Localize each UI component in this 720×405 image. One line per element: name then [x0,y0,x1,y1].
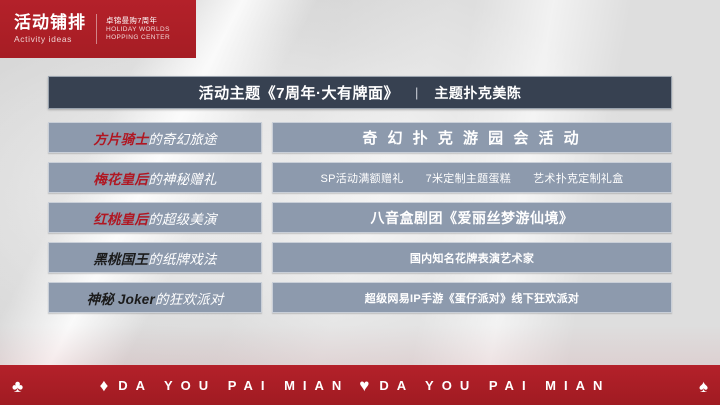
row-content: 八音盒剧团《爱丽丝梦游仙境》 [371,208,574,228]
row-label-suffix: 的狂欢派对 [155,292,224,307]
slide-title-bar: 活动主题《7周年·大有牌面》 | 主题扑克美陈 [48,76,672,109]
table-row: 神秘 Joker的狂欢派对 超级网易IP手游《蛋仔派对》线下狂欢派对 [48,282,672,313]
brand-banner: 活动铺排 Activity ideas 卓锦曼购7周年 HOLIDAY WORL… [0,0,196,58]
brand-sub-en-line1: HOLIDAY WORLDS [106,26,170,35]
table-row: 方片骑士的奇幻旅途 奇 幻 扑 克 游 园 会 活 动 [48,122,672,153]
spade-icon: ♠ [699,378,708,395]
row-content: 国内知名花牌表演艺术家 [410,250,534,266]
footer-marquee-right: DA YOU PAI MIAN [369,378,620,393]
row-label: 方片骑士的奇幻旅途 [93,128,216,148]
row-label-prefix: 黑桃国王 [93,252,148,267]
row-content-cell: SP活动满额赠礼7米定制主题蛋糕艺术扑克定制礼盒 [272,162,672,193]
row-content: 奇 幻 扑 克 游 园 会 活 动 [362,127,581,148]
row-label-suffix: 的神秘赠礼 [148,172,217,187]
page-subtitle: 主题扑克美陈 [434,83,521,103]
content-rows: 方片骑士的奇幻旅途 奇 幻 扑 克 游 园 会 活 动 梅花皇后的神秘赠礼 SP… [48,122,672,322]
row-label-prefix: 红桃皇后 [93,212,148,227]
row-content-part-2: 7米定制主题蛋糕 [426,173,512,185]
table-row: 梅花皇后的神秘赠礼 SP活动满额赠礼7米定制主题蛋糕艺术扑克定制礼盒 [48,162,672,193]
row-label-cell: 红桃皇后的超级美演 [48,202,262,233]
row-label: 神秘 Joker的狂欢派对 [87,288,224,308]
brand-sub-cn: 卓锦曼购7周年 [106,16,170,26]
footer-bar: ♣ ♦ DA YOU PAI MIAN ♥ DA YOU PAI MIAN ♠ [0,365,720,405]
footer-marquee-left: DA YOU PAI MIAN [108,378,359,393]
row-content-cell: 超级网易IP手游《蛋仔派对》线下狂欢派对 [272,282,672,313]
row-label-suffix: 的超级美演 [148,212,217,227]
row-label-cell: 方片骑士的奇幻旅途 [48,122,262,153]
row-content: 超级网易IP手游《蛋仔派对》线下狂欢派对 [365,290,579,306]
brand-divider [96,14,97,44]
page-title: 活动主题《7周年·大有牌面》 [199,82,399,103]
row-content-cell: 八音盒剧团《爱丽丝梦游仙境》 [272,202,672,233]
slide-canvas: 活动铺排 Activity ideas 卓锦曼购7周年 HOLIDAY WORL… [0,0,720,405]
diamond-icon: ♦ [100,377,109,394]
row-label-prefix: 方片骑士 [93,132,148,147]
row-label-prefix: 神秘 Joker [87,292,155,307]
table-row: 黑桃国王的纸牌戏法 国内知名花牌表演艺术家 [48,242,672,273]
brand-sub-en-line2: HOPPING CENTER [106,34,170,43]
brand-titles: 活动铺排 Activity ideas [14,13,86,45]
brand-name-cn: 活动铺排 [14,13,86,32]
row-label: 梅花皇后的神秘赠礼 [93,168,216,188]
title-separator: | [415,85,418,100]
row-content-cell: 国内知名花牌表演艺术家 [272,242,672,273]
row-content-part-1: SP活动满额赠礼 [320,173,403,185]
footer-glow [0,325,720,365]
row-label-suffix: 的纸牌戏法 [148,252,217,267]
row-label-cell: 黑桃国王的纸牌戏法 [48,242,262,273]
row-content: SP活动满额赠礼7米定制主题蛋糕艺术扑克定制礼盒 [320,170,623,186]
row-label-prefix: 梅花皇后 [93,172,148,187]
row-label: 红桃皇后的超级美演 [93,208,216,228]
club-icon: ♣ [12,378,23,395]
row-label-cell: 梅花皇后的神秘赠礼 [48,162,262,193]
row-content-part-3: 艺术扑克定制礼盒 [533,173,623,185]
row-label-cell: 神秘 Joker的狂欢派对 [48,282,262,313]
heart-icon: ♥ [359,377,369,394]
row-label: 黑桃国王的纸牌戏法 [93,248,216,268]
row-content-cell: 奇 幻 扑 克 游 园 会 活 动 [272,122,672,153]
table-row: 红桃皇后的超级美演 八音盒剧团《爱丽丝梦游仙境》 [48,202,672,233]
brand-subtitles: 卓锦曼购7周年 HOLIDAY WORLDS HOPPING CENTER [106,16,170,43]
brand-name-en: Activity ideas [14,34,86,45]
row-label-suffix: 的奇幻旅途 [148,132,217,147]
